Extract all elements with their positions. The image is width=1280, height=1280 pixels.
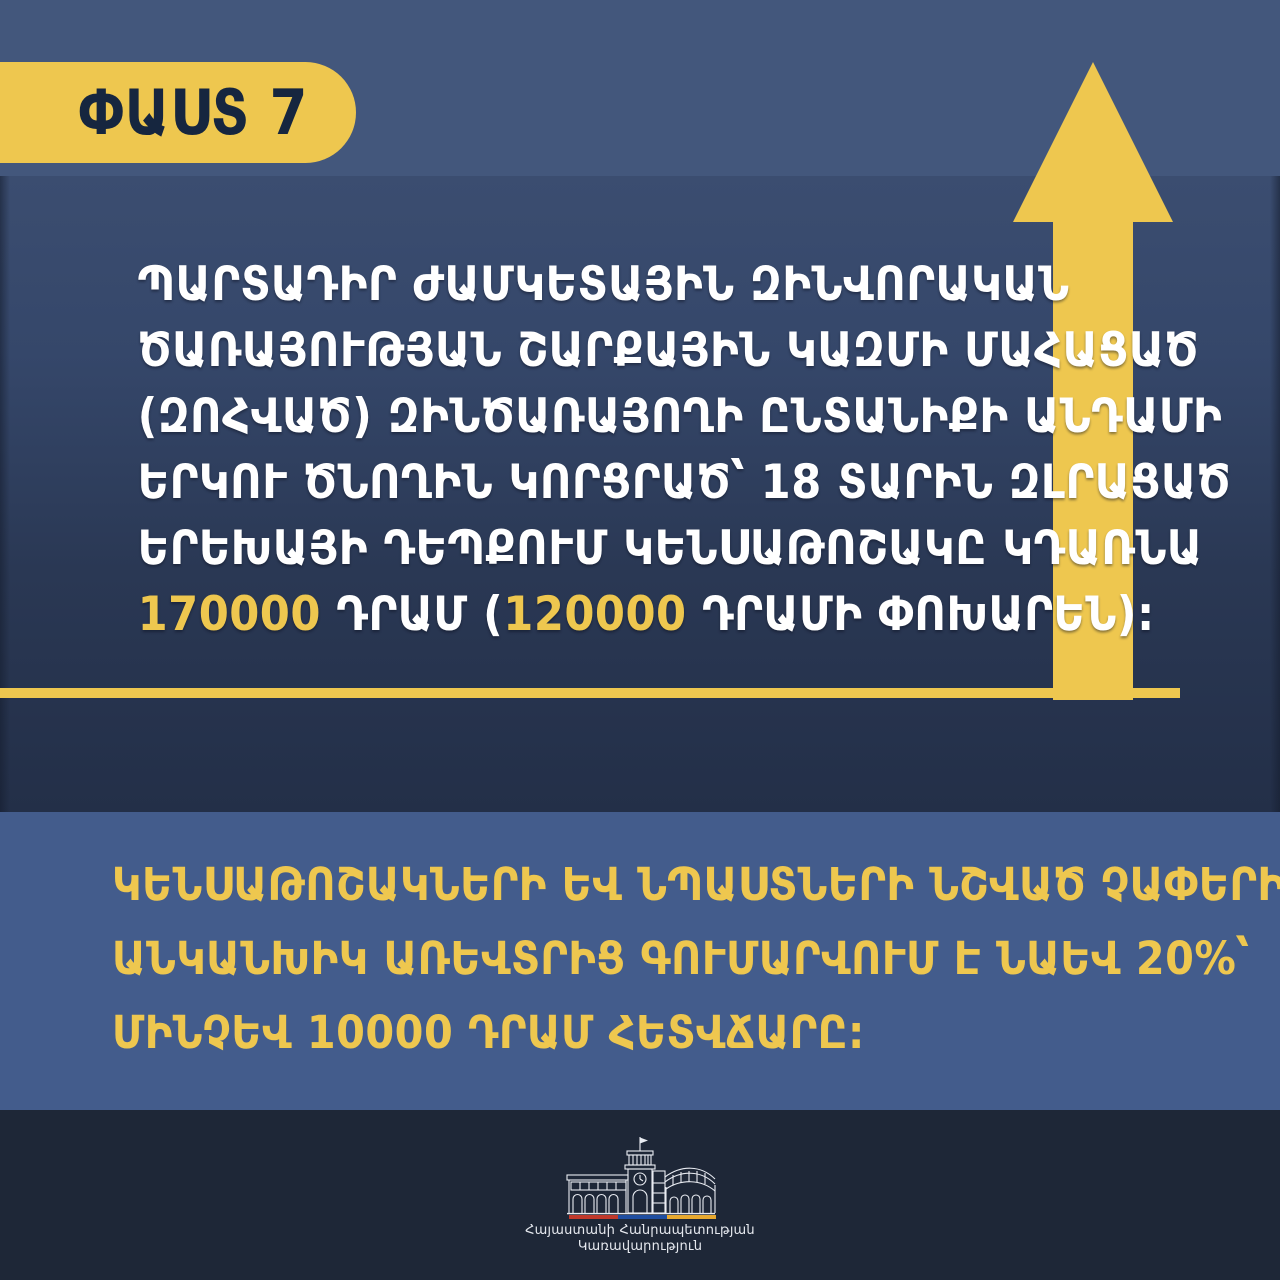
secondary-statement: ԿԵՆՍԱԹՈՇԱԿՆԵՐԻ ԵՎ ՆՊԱՍՏՆԵՐԻ ՆՇՎԱԾ ՉԱՓԵՐԻ… <box>112 848 1192 1070</box>
main-statement-line-1: ՊԱՐՏԱԴԻՐ ԺԱՄԿԵՏԱՅԻՆ ԶԻՆՎՈՐԱԿԱՆ <box>138 252 1003 318</box>
fact-tab-label: ՓԱՍՏ 7 <box>47 82 308 144</box>
main-statement-line-5: ԵՐԵԽԱՅԻ ԴԵՊՔՈՒՄ ԿԵՆՍԱԹՈՇԱԿԸ ԿԴԱՌՆԱ <box>138 516 1003 582</box>
secondary-statement-line-1: ԿԵՆՍԱԹՈՇԱԿՆԵՐԻ ԵՎ ՆՊԱՍՏՆԵՐԻ ՆՇՎԱԾ ՉԱՓԵՐԻ… <box>112 848 1106 922</box>
old-amount-value: 120000 <box>503 587 686 642</box>
fact-number-tab: ՓԱՍՏ 7 <box>0 62 356 163</box>
emblem-caption-line-2: Կառավարություն <box>525 1239 755 1255</box>
divider-rule <box>0 688 1180 698</box>
main-statement: ՊԱՐՏԱԴԻՐ ԺԱՄԿԵՏԱՅԻՆ ԶԻՆՎՈՐԱԿԱՆ ԾԱՌԱՅՈՒԹՅ… <box>100 252 1040 648</box>
amount-middle-text: ԴՐԱՄ ( <box>321 587 503 642</box>
secondary-statement-line-3: ՄԻՆՉԵՎ 10000 ԴՐԱՄ ՀԵՏՎՃԱՐԸ: <box>112 996 1106 1070</box>
secondary-statement-line-2: ԱՆԿԱՆԽԻԿ ԱՌԵՎՏՐԻՑ ԳՈՒՄԱՐՎՈՒՄ Է ՆԱԵՎ 20%՝ <box>112 922 1106 996</box>
main-statement-line-4: ԵՐԿՈՒ ԾՆՈՂԻՆ ԿՈՐՑՐԱԾ՝ 18 ՏԱՐԻՆ ԶԼՐԱՑԱԾ <box>138 450 1003 516</box>
government-house-icon <box>547 1135 733 1219</box>
main-statement-amount-line: 170000 ԴՐԱՄ (120000 ԴՐԱՄԻ ՓՈԽԱՐԵՆ): <box>138 582 1003 648</box>
infographic-poster: ՓԱՍՏ 7 ՊԱՐՏԱԴԻՐ ԺԱՄԿԵՏԱՅԻՆ ԶԻՆՎՈՐԱԿԱՆ ԾԱ… <box>0 0 1280 1280</box>
main-statement-line-3: (ԶՈՀՎԱԾ) ԶԻՆԾԱՌԱՅՈՂԻ ԸՆՏԱՆԻՔԻ ԱՆԴԱՄԻ <box>138 384 1003 450</box>
new-amount-value: 170000 <box>138 587 321 642</box>
emblem-caption-line-1: Հայաստանի Հանրապետության <box>525 1223 755 1239</box>
footer: Հայաստանի Հանրապետության Կառավարություն <box>0 1110 1280 1280</box>
main-statement-line-2: ԾԱՌԱՅՈՒԹՅԱՆ ՇԱՐՔԱՅԻՆ ԿԱԶՄԻ ՄԱՀԱՑԱԾ <box>138 318 1003 384</box>
amount-tail-text: ԴՐԱՄԻ ՓՈԽԱՐԵՆ): <box>687 587 1155 642</box>
armenian-flag-bar <box>569 1215 716 1219</box>
emblem-caption: Հայաստանի Հանրապետության Կառավարություն <box>525 1223 755 1255</box>
